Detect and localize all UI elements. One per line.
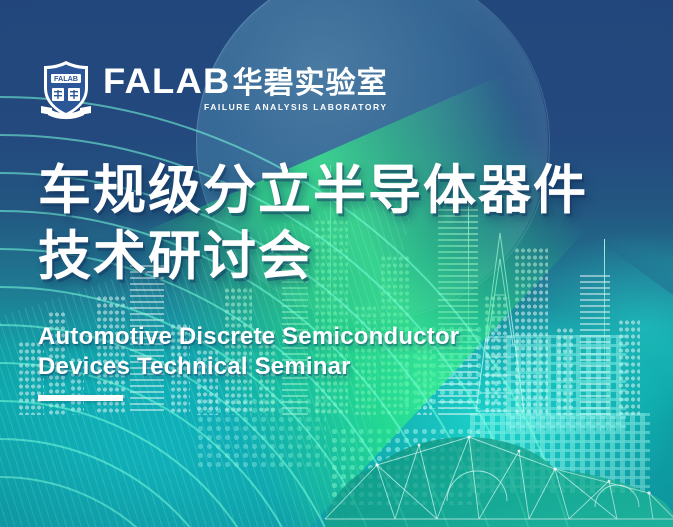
page-title: 车规级分立半导体器件 技术研讨会	[38, 158, 648, 290]
wordmark-en: FALAB	[103, 66, 231, 98]
circuit-dot-grid-c	[196, 397, 326, 467]
subtitle-line-1: Automotive Discrete Semiconductor	[38, 323, 459, 350]
shield-top-text: FALAB	[54, 74, 78, 83]
subtitle-line-2: Devices Technical Seminar	[38, 352, 558, 382]
falab-shield-logo[interactable]: FALAB FALAB 华碧实验室 FAILURE ANALYSIS LABO	[38, 58, 388, 120]
shield-icon: FALAB	[38, 58, 94, 120]
wordmark-cn: 华碧实验室	[233, 69, 388, 99]
headline-line-1: 车规级分立半导体器件	[38, 160, 588, 221]
page-subtitle: Automotive Discrete Semiconductor Device…	[38, 322, 558, 382]
low-poly-car-silhouette	[319, 415, 673, 527]
white-rule	[38, 395, 123, 401]
brand-tagline: FAILURE ANALYSIS LABORATORY	[103, 102, 388, 112]
brand-lockup: FALAB 华碧实验室 FAILURE ANALYSIS LABORATORY	[103, 66, 388, 111]
headline-line-2: 技术研讨会	[38, 224, 648, 290]
poster-canvas: FALAB FALAB 华碧实验室 FAILURE ANALYSIS LABO	[0, 0, 673, 527]
